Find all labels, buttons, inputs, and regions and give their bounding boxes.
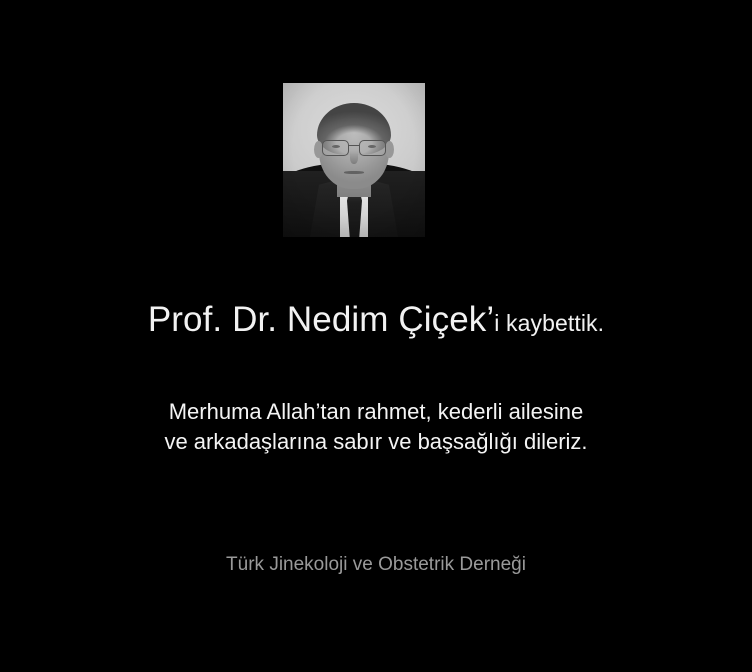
memorial-slide: Prof. Dr. Nedim Çiçek’i kaybettik. Merhu…	[0, 0, 752, 672]
message-line-1: Merhuma Allah’tan rahmet, kederli ailesi…	[0, 397, 752, 427]
condolence-message: Merhuma Allah’tan rahmet, kederli ailesi…	[0, 397, 752, 457]
portrait-photo	[283, 83, 425, 237]
organization-name: Türk Jinekoloji ve Obstetrik Derneği	[0, 554, 752, 576]
portrait-backdrop	[283, 83, 425, 237]
headline-suffix: i kaybettik.	[494, 310, 604, 336]
portrait-grayscale-layer	[283, 83, 425, 237]
page-title: Prof. Dr. Nedim Çiçek’i kaybettik.	[0, 300, 752, 340]
photo-vignette	[283, 83, 425, 237]
message-line-2: ve arkadaşlarına sabır ve başsağlığı dil…	[0, 427, 752, 457]
deceased-name: Prof. Dr. Nedim Çiçek’	[148, 300, 494, 339]
